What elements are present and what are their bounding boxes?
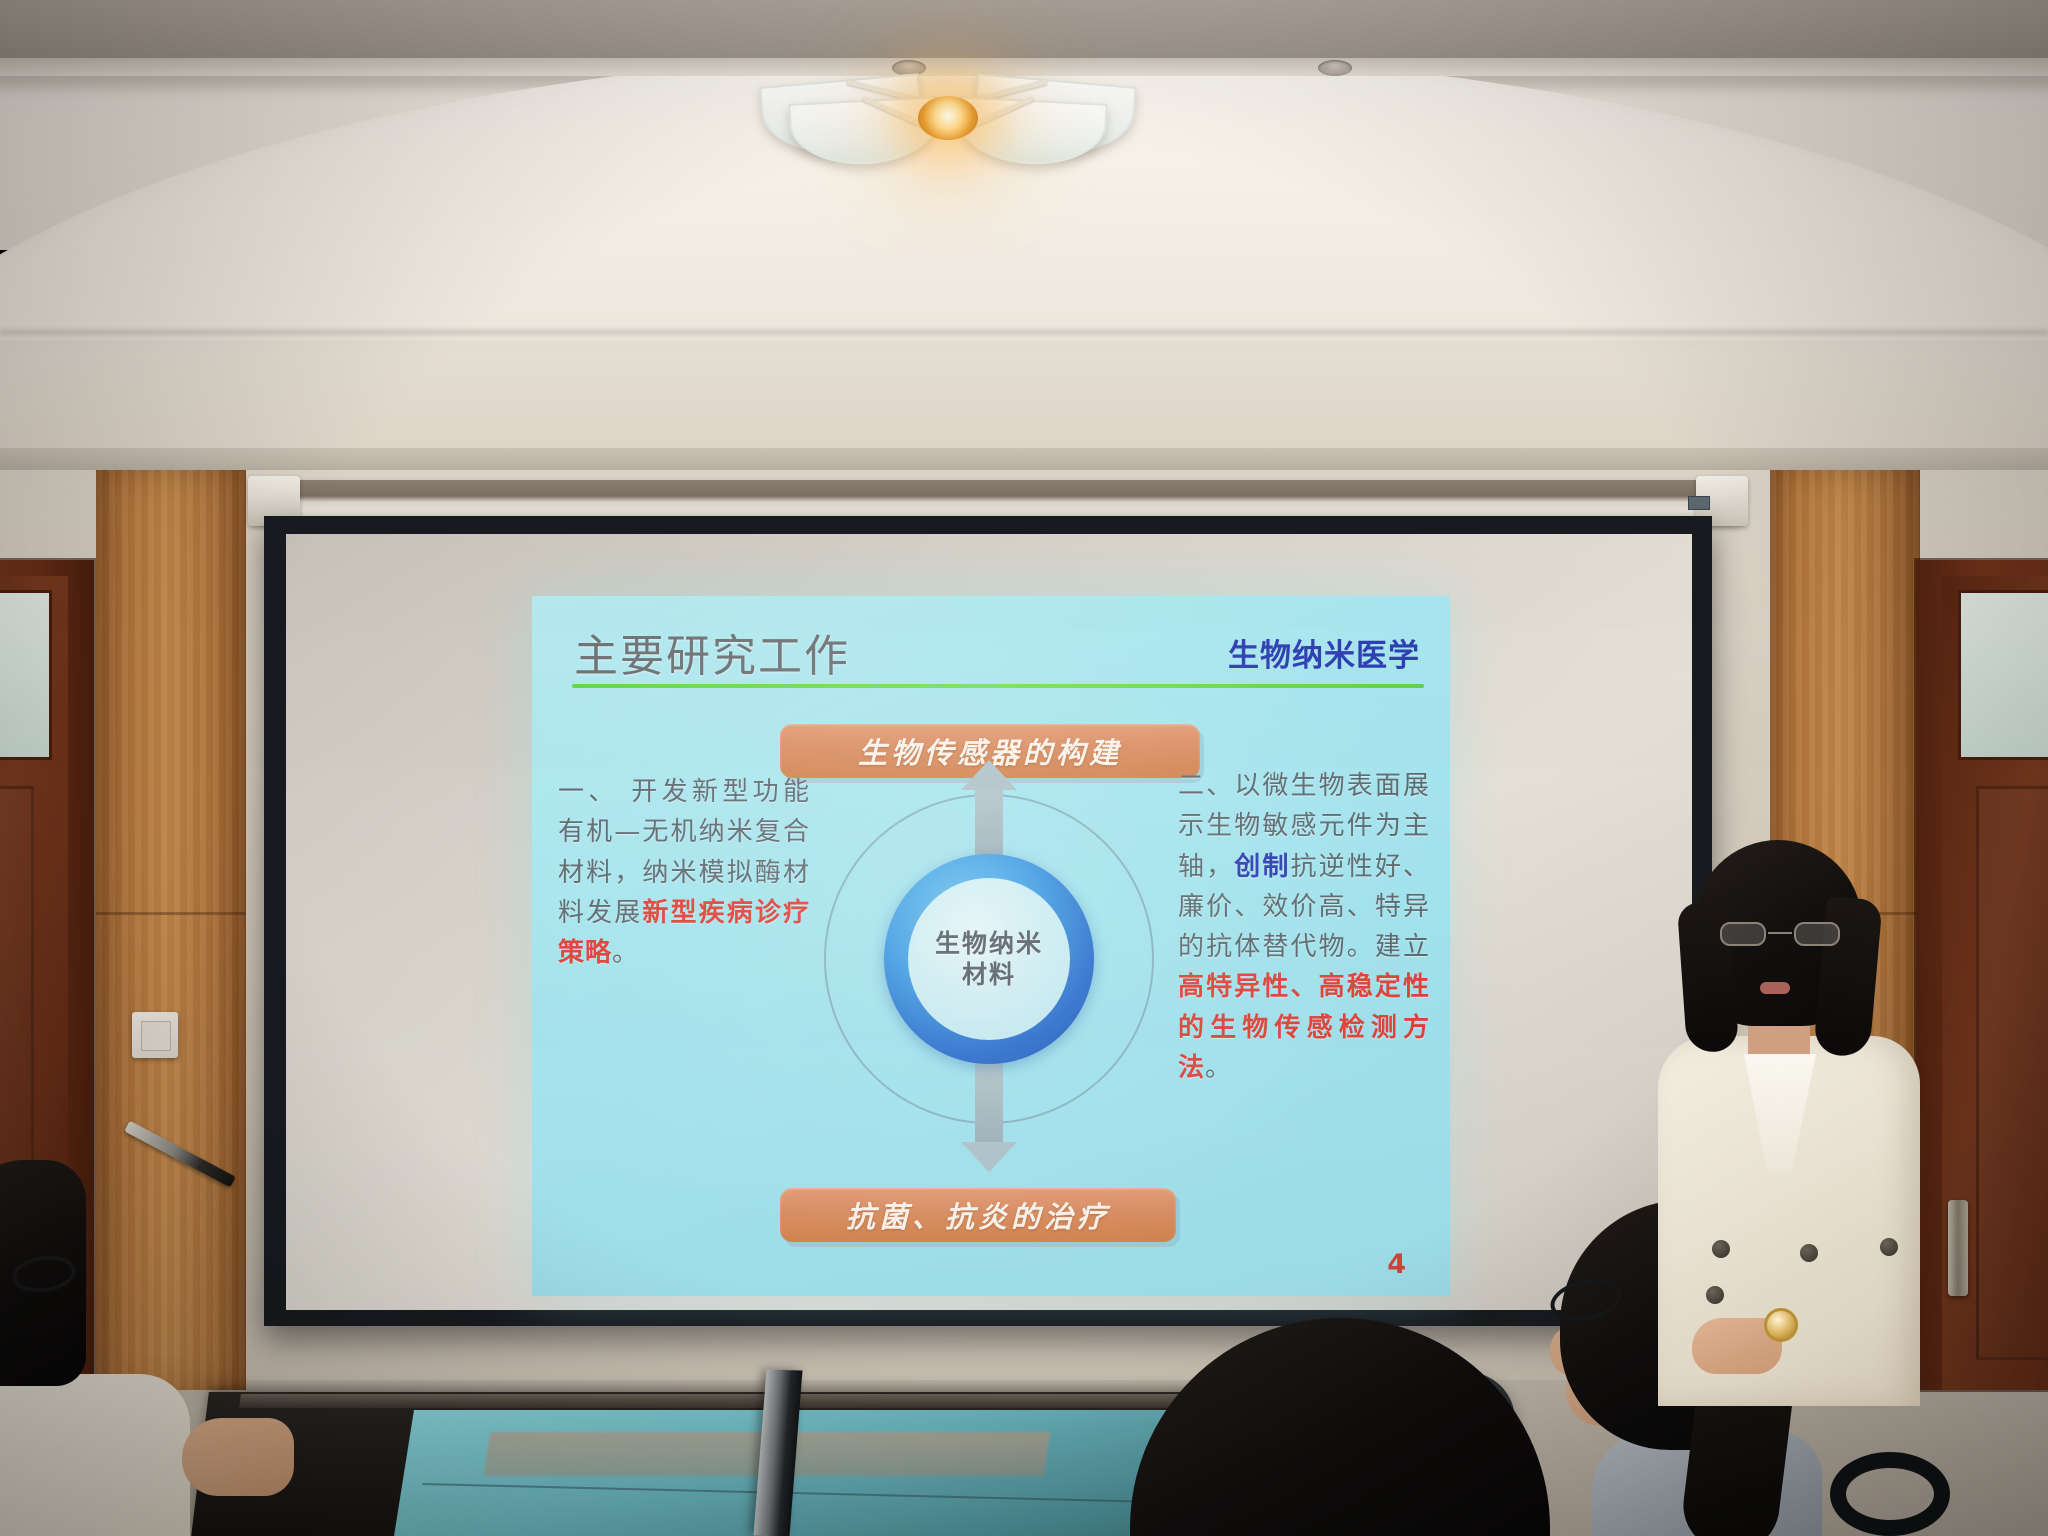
slide-title: 主要研究工作	[574, 620, 850, 684]
table-reflection	[394, 1410, 1214, 1536]
title-underline-rule	[572, 684, 1424, 688]
arrow-up-icon	[975, 786, 1003, 862]
door-panel-inset	[1976, 786, 2048, 1360]
arrow-down-icon	[975, 1058, 1003, 1144]
door-glass-panel	[1958, 590, 2048, 760]
blazer-button	[1712, 1240, 1730, 1258]
banner-antibacterial-therapy: 抗菌、抗炎的治疗	[780, 1188, 1176, 1242]
presenter-standing-right	[1636, 840, 1936, 1400]
presenter-mouth	[1760, 982, 1790, 994]
presenter-glasses-icon	[1718, 922, 1842, 948]
audience-hair	[1130, 1318, 1550, 1536]
wall-trim-band	[0, 448, 2048, 472]
slide-column-right: 二、以微生物表面展示生物敏感元件为主轴，创制抗逆性好、廉价、效价高、特异的抗体替…	[1178, 766, 1430, 1088]
lamp-shade-icon	[954, 96, 1107, 168]
lamp-bulb-icon	[918, 96, 978, 140]
slide-subtitle: 生物纳米医学	[1228, 630, 1420, 675]
audience-hand-holding-pen	[182, 1418, 294, 1496]
lamp-shade-icon	[788, 96, 941, 168]
center-node-line1: 生物纳米	[935, 928, 1043, 959]
center-node-line2: 材料	[962, 959, 1016, 990]
blazer-button	[1800, 1244, 1818, 1262]
door-glass-panel	[0, 590, 52, 760]
soffit-shadow	[0, 330, 2048, 338]
column-right-highlight-blue: 创制	[1234, 852, 1290, 882]
blazer-button	[1880, 1238, 1898, 1256]
ceiling-light-fixture	[768, 56, 1128, 176]
wall-upper	[0, 340, 2048, 460]
roller-control-button[interactable]	[1688, 496, 1710, 510]
conference-room-photo: 主要研究工作 生物纳米医学 生物传感器的构建 抗菌、抗炎的治疗 生物纳米 材料 …	[0, 0, 2048, 1536]
blazer-button	[1706, 1286, 1724, 1304]
diagram-center-ring: 生物纳米 材料	[884, 854, 1094, 1064]
ceiling-vent-icon	[1318, 60, 1352, 76]
banner-bottom-label: 抗菌、抗炎的治疗	[846, 1194, 1110, 1236]
ceiling-upper-band	[0, 0, 2048, 62]
column-left-tail: 。	[612, 938, 639, 968]
slide-page-number: 4	[1387, 1249, 1406, 1280]
door-handle-right[interactable]	[1948, 1200, 1968, 1296]
light-switch[interactable]	[132, 1012, 178, 1058]
diagram-center-core: 生物纳米 材料	[908, 878, 1070, 1040]
presentation-slide[interactable]: 主要研究工作 生物纳米医学 生物传感器的构建 抗菌、抗炎的治疗 生物纳米 材料 …	[532, 596, 1450, 1296]
column-right-tail: 。	[1205, 1053, 1232, 1083]
presenter-wristwatch	[1764, 1308, 1798, 1342]
audience-member-bottom-right	[1130, 1318, 1550, 1536]
audience-jacket	[0, 1374, 190, 1536]
slide-column-left: 一、 开发新型功能有机—无机纳米复合材料，纳米模拟酶材料发展新型疾病诊疗策略。	[558, 772, 810, 973]
conference-table-edge	[239, 1394, 1201, 1408]
